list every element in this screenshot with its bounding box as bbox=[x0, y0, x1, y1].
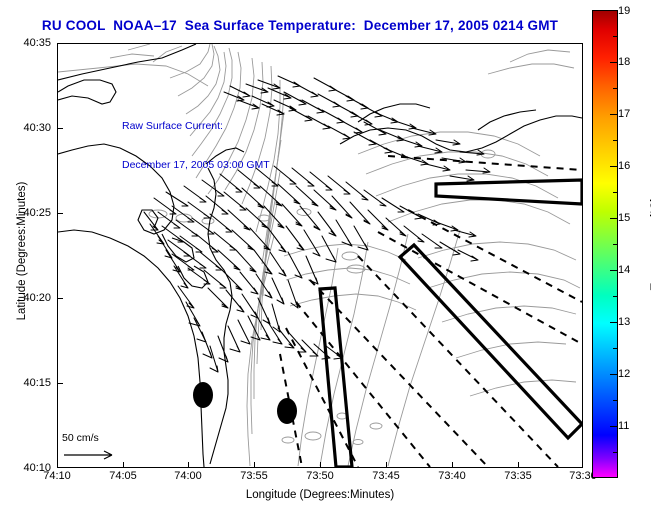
cbtick-18: 18 bbox=[618, 56, 630, 68]
xtickmark-7 bbox=[518, 462, 519, 468]
xtick-4: 73:50 bbox=[306, 470, 334, 482]
ytick-4: 40:15 bbox=[5, 377, 51, 389]
xtickmark-2 bbox=[188, 462, 189, 468]
cbtickmark-17 bbox=[610, 114, 618, 115]
annotation-line-2: December 17, 2005 03:00 GMT bbox=[122, 159, 270, 172]
cbtick-19: 19 bbox=[618, 5, 630, 17]
cbtickmark-13 bbox=[610, 322, 618, 323]
ytick-1: 40:30 bbox=[5, 122, 51, 134]
xtickmark-5 bbox=[386, 462, 387, 468]
ytick-5: 40:10 bbox=[5, 462, 51, 474]
xtick-1: 74:05 bbox=[109, 470, 137, 482]
sst-map-figure: RU COOL NOAA–17 Sea Surface Temperature:… bbox=[0, 0, 651, 519]
xtick-5: 73:45 bbox=[372, 470, 400, 482]
cbtickmark-16 bbox=[610, 166, 618, 167]
station-markers bbox=[193, 382, 297, 424]
cbminor-8 bbox=[613, 452, 618, 453]
xtick-2: 74:00 bbox=[174, 470, 202, 482]
ytick-3: 40:20 bbox=[5, 292, 51, 304]
map-plot-area: Raw Surface Current: December 17, 2005 0… bbox=[57, 43, 583, 468]
cbminor-4 bbox=[613, 244, 618, 245]
cbtickmark-14 bbox=[610, 270, 618, 271]
xtickmark-1 bbox=[123, 462, 124, 468]
annotation-line-1: Raw Surface Current: bbox=[122, 120, 270, 133]
xtick-7: 73:35 bbox=[504, 470, 532, 482]
cbminor-2 bbox=[613, 140, 618, 141]
ytickmark-2 bbox=[57, 213, 63, 214]
ytick-0: 40:35 bbox=[5, 37, 51, 49]
cbminor-6 bbox=[613, 348, 618, 349]
xtickmark-6 bbox=[452, 462, 453, 468]
cbtickmark-19 bbox=[610, 10, 618, 11]
ytick-2: 40:25 bbox=[5, 207, 51, 219]
cbtickmark-12 bbox=[610, 374, 618, 375]
figure-title: RU COOL NOAA–17 Sea Surface Temperature:… bbox=[0, 18, 600, 33]
xtickmark-4 bbox=[320, 462, 321, 468]
y-axis-label: Latitude (Degrees:Minutes) bbox=[16, 171, 28, 331]
cbtickmark-15 bbox=[610, 218, 618, 219]
scale-legend-label: 50 cm/s bbox=[62, 432, 99, 444]
cbtickmark-11 bbox=[610, 426, 618, 427]
xtickmark-3 bbox=[254, 462, 255, 468]
current-annotation: Raw Surface Current: December 17, 2005 0… bbox=[122, 94, 270, 198]
cbtick-13: 13 bbox=[618, 316, 630, 328]
cbminor-7 bbox=[613, 400, 618, 401]
cbminor-1 bbox=[613, 88, 618, 89]
scale-legend-arrow-icon bbox=[62, 448, 118, 462]
cbtickmark-18 bbox=[610, 62, 618, 63]
cbminor-5 bbox=[613, 296, 618, 297]
ytickmark-4 bbox=[57, 383, 63, 384]
x-axis-label: Longitude (Degrees:Minutes) bbox=[57, 489, 583, 501]
xtick-3: 73:55 bbox=[240, 470, 268, 482]
cbminor-0 bbox=[613, 36, 618, 37]
cbtick-17: 17 bbox=[618, 108, 630, 120]
cbtick-12: 12 bbox=[618, 368, 630, 380]
ytickmark-1 bbox=[57, 128, 63, 129]
cbtick-16: 16 bbox=[618, 160, 630, 172]
cbtick-15: 15 bbox=[618, 212, 630, 224]
cbtick-11: 11 bbox=[618, 420, 629, 432]
ytickmark-3 bbox=[57, 298, 63, 299]
cbminor-3 bbox=[613, 192, 618, 193]
cbtick-14: 14 bbox=[618, 264, 630, 276]
xtick-6: 73:40 bbox=[438, 470, 466, 482]
